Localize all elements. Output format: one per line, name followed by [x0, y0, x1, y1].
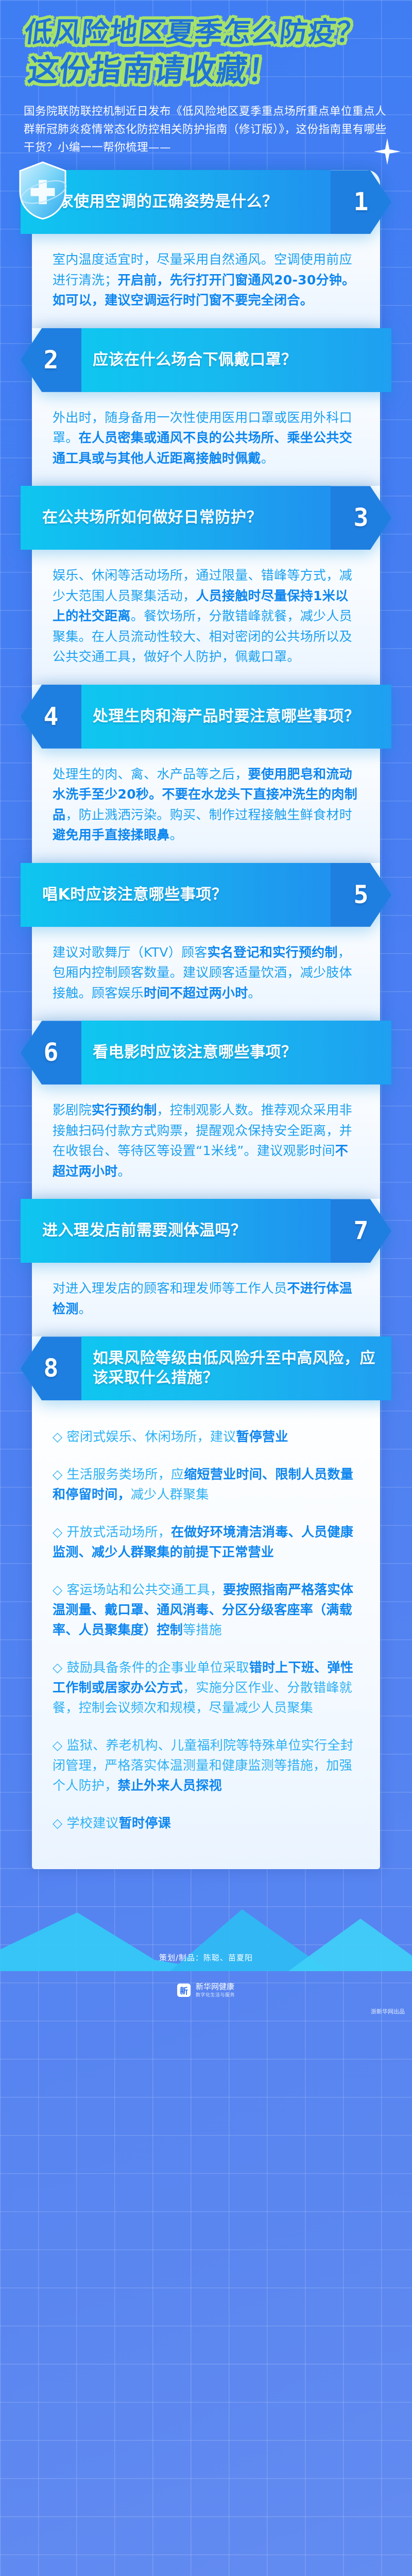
brand-bottom-label: 浙新华网出品: [371, 2007, 405, 2015]
bullet-item: ◇客运场站和公共交通工具，要按照指南严格落实体温测量、戴口罩、通风消毒、分区分级…: [53, 1580, 359, 1640]
section-number-badge: 2: [21, 328, 81, 392]
section-bullet-list: ◇密闭式娱乐、休闲场所，建议暂停营业◇生活服务类场所，应缩短营业时间、限制人员数…: [32, 1400, 380, 1856]
section-answer: 对进入理发店的顾客和理发师等工作人员不进行体温检测。: [32, 1263, 380, 1336]
section-number-badge: 8: [21, 1336, 81, 1400]
logo-name: 新华网健康: [196, 1982, 235, 1991]
logo-subtitle: 数字化生活与服务: [196, 1991, 235, 1998]
title-line-2: 这份指南请收藏！: [26, 51, 281, 91]
section-answer: 娱乐、休闲等活动场所，通过限量、错峰等方式，减少大范围人员聚集活动，人员接触时尽…: [32, 550, 380, 685]
section-answer: 室内温度适宜时，尽量采用自然通风。空调使用前应进行清洗；开启前，先行打开门窗通风…: [32, 234, 380, 328]
section-question: 应该在什么场合下佩戴口罩？: [81, 350, 305, 370]
shield-icon: [18, 161, 68, 221]
bullet-item: ◇开放式活动场所，在做好环境清洁消毒、人员健康监测、减少人群聚集的前提下正常营业: [53, 1522, 359, 1562]
section-card: 6看电影时应该注意哪些事项？影剧院实行预约制，控制观影人数。推荐观众采用非接触扫…: [32, 1021, 380, 1199]
section-answer: 影剧院实行预约制，控制观影人数。推荐观众采用非接触扫码付款方式购票，提醒观众保持…: [32, 1084, 380, 1199]
section-number-badge: 3: [331, 486, 391, 550]
section-card: 进入理发店前需要测体温吗？7对进入理发店的顾客和理发师等工作人员不进行体温检测。: [32, 1199, 380, 1336]
section-headline-bar: 2应该在什么场合下佩戴口罩？: [21, 328, 391, 392]
diamond-bullet-icon: ◇: [53, 1467, 63, 1482]
section-card: 4处理生肉和海产品时要注意哪些事项？处理生的肉、禽、水产品等之后，要使用肥皂和流…: [32, 685, 380, 863]
section-card: 在家使用空调的正确姿势是什么？1室内温度适宜时，尽量采用自然通风。空调使用前应进…: [32, 170, 380, 328]
section-question: 处理生肉和海产品时要注意哪些事项？: [81, 707, 368, 726]
section-number-badge: 7: [331, 1199, 391, 1263]
section-headline-bar: 在家使用空调的正确姿势是什么？1: [21, 170, 391, 234]
section-headline-bar: 唱K时应该注意哪些事项？5: [21, 863, 391, 927]
intro-paragraph: 国务院联防联控机制近日发布《低风险地区夏季重点场所重点单位重点人群新冠肺炎疫情常…: [24, 103, 388, 157]
section-question: 看电影时应该注意哪些事项？: [81, 1043, 305, 1062]
diamond-bullet-icon: ◇: [53, 1429, 63, 1444]
section-number-badge: 1: [331, 170, 391, 234]
section-number-badge: 6: [21, 1021, 81, 1084]
page-footer: 策划/制品：陈聪、苗夏阳 新 新华网健康 数字化生活与服务 浙新华网出品: [0, 1866, 412, 2021]
page-title: 低风险地区夏季怎么防疫？ 这份指南请收藏！: [0, 14, 412, 92]
bullet-item: ◇生活服务类场所，应缩短营业时间、限制人员数量和停留时间，减少人群聚集: [53, 1464, 359, 1504]
diamond-bullet-icon: ◇: [53, 1582, 63, 1597]
shield-icon: [18, 161, 68, 221]
publisher-logo[interactable]: 新 新华网健康 数字化生活与服务: [0, 1982, 412, 1998]
logo-mark-icon: 新: [177, 1984, 191, 1997]
section-answer: 外出时，随身备用一次性使用医用口罩或医用外科口罩。在人员密集或通风不良的公共场所…: [32, 392, 380, 486]
section-answer: 建议对歌舞厅（KTV）顾客实名登记和实行预约制，包厢内控制顾客数量。建议顾客适量…: [32, 927, 380, 1021]
bullet-item: ◇密闭式娱乐、休闲场所，建议暂停营业: [53, 1427, 359, 1447]
section-question: 唱K时应该注意哪些事项？: [21, 885, 235, 905]
section-headline-bar: 在公共场所如何做好日常防护？3: [21, 486, 391, 550]
bullet-item: ◇监狱、养老机构、儿童福利院等特殊单位实行全封闭管理，严格落实体温测量和健康监测…: [53, 1735, 359, 1795]
section-card: 8如果风险等级由低风险升至中高风险，应该采取什么措施？◇密闭式娱乐、休闲场所，建…: [32, 1336, 380, 1869]
section-card: 唱K时应该注意哪些事项？5建议对歌舞厅（KTV）顾客实名登记和实行预约制，包厢内…: [32, 863, 380, 1021]
diamond-bullet-icon: ◇: [53, 1816, 63, 1831]
section-answer: 处理生的肉、禽、水产品等之后，要使用肥皂和流动水洗手至少20秒。不要在水龙头下直…: [32, 749, 380, 863]
section-number-badge: 4: [21, 685, 81, 749]
diamond-bullet-icon: ◇: [53, 1660, 63, 1675]
section-card: 2应该在什么场合下佩戴口罩？外出时，随身备用一次性使用医用口罩或医用外科口罩。在…: [32, 328, 380, 486]
section-headline-bar: 8如果风险等级由低风险升至中高风险，应该采取什么措施？: [21, 1336, 391, 1400]
bullet-item: ◇学校建议暂时停课: [53, 1813, 359, 1833]
section-headline-bar: 6看电影时应该注意哪些事项？: [21, 1021, 391, 1084]
infographic-page: 低风险地区夏季怎么防疫？ 这份指南请收藏！ 国务院联防联控机制近日发布《低风险地…: [0, 0, 412, 2576]
diamond-bullet-icon: ◇: [53, 1524, 63, 1539]
sections-container: 在家使用空调的正确姿势是什么？1室内温度适宜时，尽量采用自然通风。空调使用前应进…: [0, 170, 412, 1869]
section-headline-bar: 进入理发店前需要测体温吗？7: [21, 1199, 391, 1263]
section-card: 在公共场所如何做好日常防护？3娱乐、休闲等活动场所，通过限量、错峰等方式，减少大…: [32, 486, 380, 685]
page-header: 低风险地区夏季怎么防疫？ 这份指南请收藏！ 国务院联防联控机制近日发布《低风险地…: [0, 0, 412, 161]
section-question: 如果风险等级由低风险升至中高风险，应该采取什么措施？: [81, 1349, 391, 1388]
section-number-badge: 5: [331, 863, 391, 927]
section-question: 在公共场所如何做好日常防护？: [21, 508, 270, 528]
section-question: 进入理发店前需要测体温吗？: [21, 1221, 255, 1241]
title-line-1: 低风险地区夏季怎么防疫？: [23, 14, 366, 50]
credit-line: 策划/制品：陈聪、苗夏阳: [0, 1952, 412, 1963]
diamond-bullet-icon: ◇: [53, 1738, 63, 1753]
section-headline-bar: 4处理生肉和海产品时要注意哪些事项？: [21, 685, 391, 749]
bullet-item: ◇鼓励具备条件的企事业单位采取错时上下班、弹性工作制或居家办公方式，实施分区作业…: [53, 1657, 359, 1718]
